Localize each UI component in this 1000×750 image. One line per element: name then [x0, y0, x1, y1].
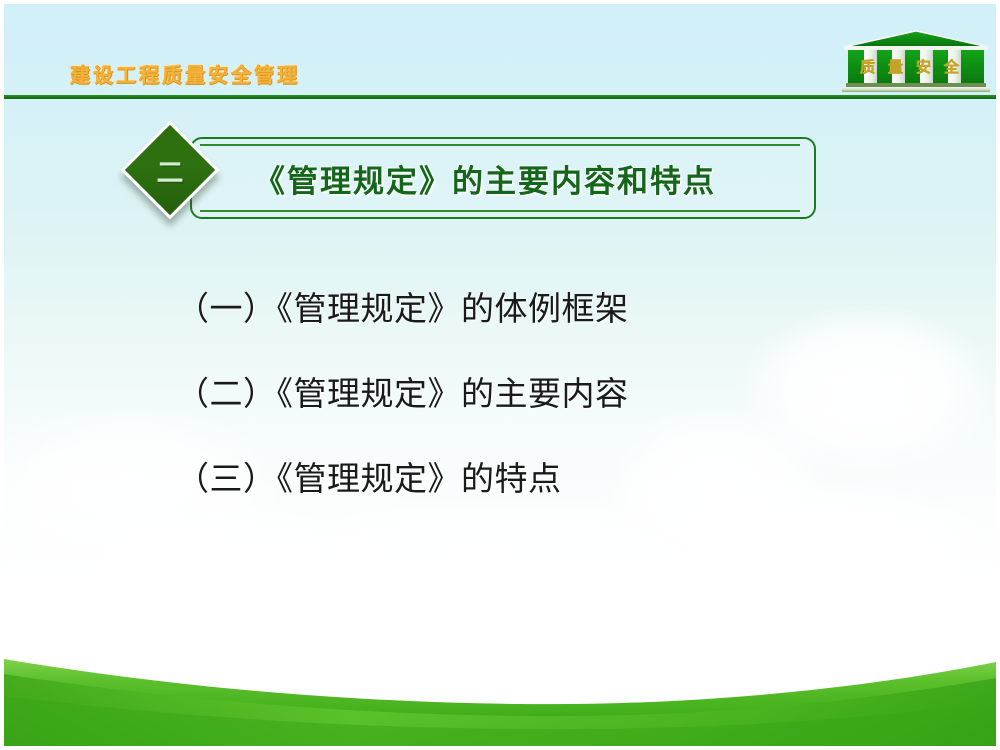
- grass-field: [4, 626, 996, 746]
- header-title: 建设工程质量安全管理: [70, 65, 300, 85]
- logo-char-quan: 全: [943, 58, 960, 76]
- content-list: （一）《管理规定》的体例框架 （二）《管理规定》的主要内容 （三）《管理规定》的…: [176, 292, 896, 495]
- presentation-slide: 建设工程质量安全管理: [0, 0, 1000, 750]
- section-title: 《管理规定》的主要内容和特点: [254, 137, 790, 219]
- logo-char-liang: 量: [888, 58, 903, 76]
- section-number-badge: 二: [128, 128, 230, 230]
- section-banner: 《管理规定》的主要内容和特点 二: [128, 137, 816, 219]
- logo-char-an: 安: [916, 58, 931, 76]
- list-item: （一）《管理规定》的体例框架: [176, 292, 896, 325]
- diamond-shape: [121, 121, 220, 220]
- quality-safety-logo: 质 量 安 全: [840, 30, 992, 96]
- logo-char-zhi: 质: [860, 58, 875, 76]
- list-item: （二）《管理规定》的主要内容: [176, 377, 896, 410]
- list-item: （三）《管理规定》的特点: [176, 462, 896, 495]
